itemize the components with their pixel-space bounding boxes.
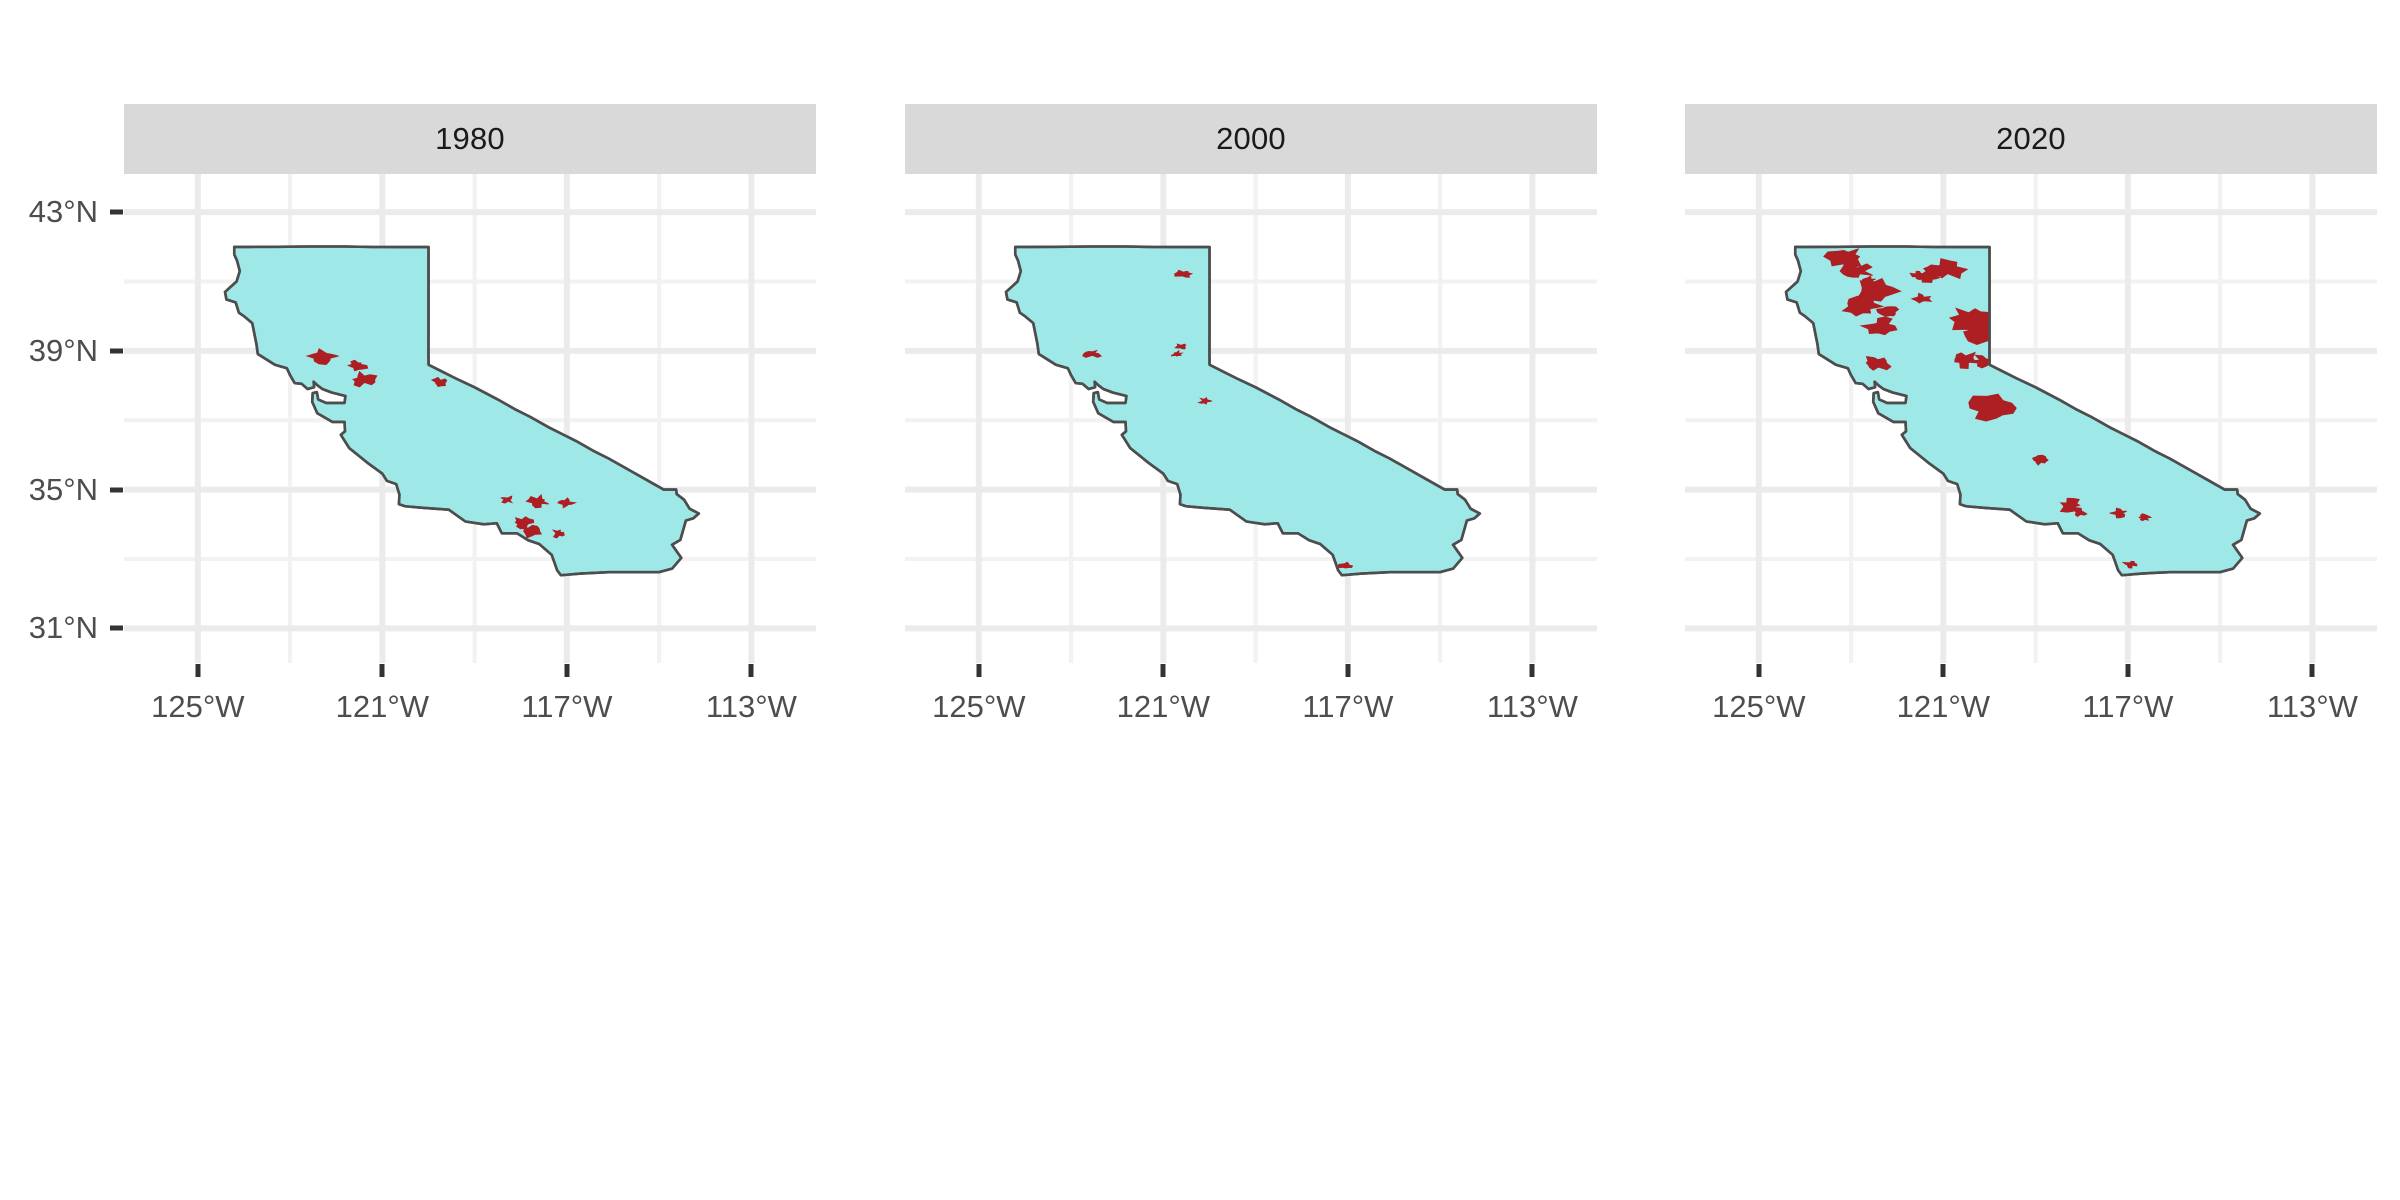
x-axis-tick-mark [1941,664,1946,677]
x-axis-tick-label: 113°W [2267,689,2358,725]
y-axis-tick-label: 39°N [29,333,98,369]
fire-polygon[interactable] [1988,329,2013,344]
x-axis-tick-mark [195,664,200,677]
x-axis-tick-label: 121°W [336,689,429,725]
x-axis-tick-label: 113°W [706,689,797,725]
fire-polygon[interactable] [2002,331,2044,348]
x-axis-tick-mark [380,664,385,677]
facet-strip-label: 2000 [1216,121,1286,157]
california-state-polygon[interactable] [1006,247,1480,576]
facet-strip-label: 2020 [1996,121,2066,157]
fire-polygon[interactable] [1997,324,2023,336]
x-axis-tick-mark [1756,664,1761,677]
fire-polygon[interactable] [2030,340,2046,348]
x-axis-tick-mark [2310,664,2315,677]
y-axis-tick-mark [110,626,123,631]
x-axis-tick-label: 121°W [1117,689,1210,725]
x-axis-tick-label: 125°W [932,689,1025,725]
figure-root: 43°N39°N35°N31°N 125°W121°W117°W113°W125… [0,0,2400,1200]
california-state-polygon[interactable] [225,247,699,576]
y-axis-tick-mark [110,487,123,492]
map-svg [905,174,1597,663]
x-axis-tick-label: 113°W [1487,689,1578,725]
y-axis-tick-label: 31°N [29,610,98,646]
facet-strip-2000: 2000 [905,104,1597,174]
x-axis-tick-mark [564,664,569,677]
facet-strip-1980: 1980 [124,104,816,174]
facet-strip-2020: 2020 [1685,104,2377,174]
x-axis-tick-mark [2125,664,2130,677]
facet-strip-label: 1980 [435,121,505,157]
y-axis-tick-label: 35°N [29,472,98,508]
x-axis-tick-label: 125°W [151,689,244,725]
y-axis-tick-label: 43°N [29,194,98,230]
map-panel-1980[interactable] [124,174,816,663]
x-axis-tick-mark [976,664,981,677]
map-panel-2020[interactable] [1685,174,2377,663]
y-axis-tick-mark [110,210,123,215]
x-axis-tick-label: 125°W [1712,689,1805,725]
x-axis-tick-mark [1345,664,1350,677]
x-axis-tick-mark [1161,664,1166,677]
x-axis-tick-label: 117°W [1302,689,1393,725]
x-axis-tick-mark [749,664,754,677]
map-svg [1685,174,2377,663]
y-axis-tick-mark [110,348,123,353]
map-svg [124,174,816,663]
map-panel-2000[interactable] [905,174,1597,663]
x-axis-tick-mark [1530,664,1535,677]
x-axis-tick-label: 117°W [2082,689,2173,725]
x-axis-tick-label: 117°W [521,689,612,725]
x-axis-tick-label: 121°W [1897,689,1990,725]
california-state-polygon[interactable] [1786,247,2260,576]
